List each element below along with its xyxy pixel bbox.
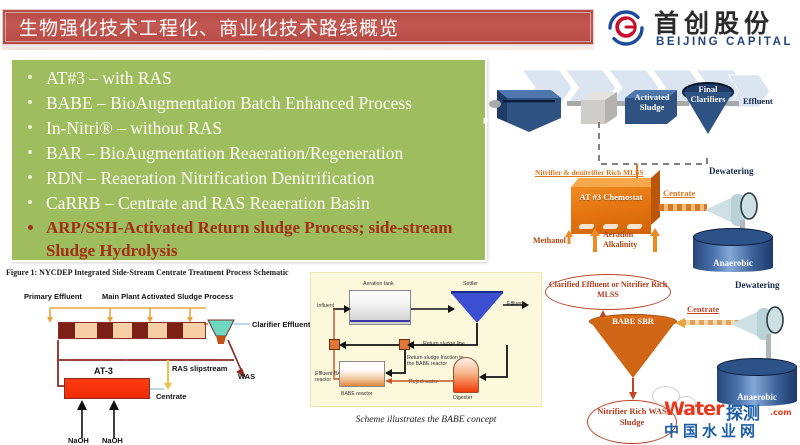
list-item: RDN – Reaeration Nitrification Denitrifi… [20, 166, 479, 191]
bullet-dot-icon [28, 150, 32, 154]
figure-caption: Figure 1: NYCDEP Integrated Side-Stream … [6, 268, 289, 277]
list-item-label: In-Nitri® – without RAS [46, 118, 222, 138]
nitrifier-mlss-label: Nitrifier & denitrifier Rich MLSS [535, 168, 655, 178]
list-item-label: RDN – Reaeration Nitrification Denitrifi… [46, 168, 375, 188]
feed-arrow-group [46, 300, 226, 324]
babe-caption: Scheme illustrates the BABE concept [310, 415, 542, 425]
chemostat-top-face [571, 178, 659, 187]
technology-list-box: AT#3 – with RAS BABE – BioAugmentation B… [10, 58, 487, 262]
list-item-label: CaRRB – Centrate and RAS Reaeration Basi… [46, 193, 370, 213]
ras-slipstream-label: RAS slipstream [172, 364, 227, 374]
naoh-label-right: NaOH [102, 436, 123, 445]
bullet-dot-icon [28, 225, 33, 230]
centrate-pipe [150, 388, 164, 390]
company-logo: 首创股份 BEIJING CAPITAL [604, 4, 800, 52]
anaerobic-label: Anaerobic [693, 258, 773, 268]
list-item-highlighted: ARP/SSH-Activated Return sludge Process;… [20, 216, 479, 262]
list-item: BAR – BioAugmentation Reaeration/Regener… [20, 141, 479, 166]
list-item-label: BABE – BioAugmentation Batch Enhanced Pr… [46, 93, 412, 113]
watermark-domain-suffix: .com [770, 408, 792, 417]
anaerobic-digester-tank: Anaerobic [693, 228, 773, 272]
at3-chemostat-process-flow: P Activated Sludge Final Clarifiers Effl… [487, 62, 800, 262]
slide-title-band: 生物强化技术工程化、商业化技术路线概览 [2, 9, 594, 45]
activated-sludge-label: Activated Sludge [627, 92, 677, 112]
bullet-list: AT#3 – with RAS BABE – BioAugmentation B… [20, 66, 479, 262]
centrate-pipe [659, 204, 707, 211]
chemostat-label: AT #3 Chemostat [571, 187, 651, 203]
bullet-dot-icon [28, 75, 32, 79]
centrate-arrow [673, 315, 689, 331]
beijing-capital-g-icon [604, 6, 648, 50]
tank-lid [717, 358, 797, 376]
centrate-label: Centrate [687, 304, 719, 314]
pipe-segment [567, 101, 581, 106]
list-item: CaRRB – Centrate and RAS Reaeration Basi… [20, 191, 479, 216]
dewatering-label: Dewatering [735, 280, 780, 290]
list-item: AT#3 – with RAS [20, 66, 479, 91]
naoh-label-left: NaOH [68, 436, 89, 445]
bullet-dot-icon [28, 200, 32, 204]
bullet-dot-icon [28, 125, 32, 129]
clarifier-effluent-label: Clarifier Effluent [252, 320, 310, 329]
list-item-label: ARP/SSH-Activated Return sludge Process;… [46, 218, 452, 260]
clarified-effluent-callout: Clarified Effluent or Nitrifier Rich MLS… [545, 274, 671, 310]
babe-sbr-label: BABE SBR [589, 316, 677, 326]
aeration-alkalinity-label: Aeration Alkalinity [603, 230, 657, 249]
watermark: Water 探测 .com 中国水业网 [642, 398, 800, 444]
bullet-dot-icon [28, 175, 32, 179]
header-divider [2, 47, 594, 50]
nycdep-schematic: Figure 1: NYCDEP Integrated Side-Stream … [6, 268, 306, 445]
centrate-label: Centrate [663, 188, 695, 198]
at3-label: AT-3 [94, 366, 113, 376]
babe-sbr-cone [589, 320, 677, 378]
methanol-label: Methanol [533, 236, 566, 245]
at3-chemostat-reactor: AT #3 Chemostat [571, 187, 651, 234]
at3-reactor [64, 378, 150, 399]
dewatering-label: Dewatering [709, 166, 754, 176]
page-title: 生物强化技术工程化、商业化技术路线概览 [19, 14, 399, 41]
final-clarifiers-label: Final Clarifiers [683, 84, 733, 104]
watermark-cn-line: 中国水业网 [664, 420, 759, 441]
list-item: In-Nitri® – without RAS [20, 116, 479, 141]
babe-concept-diagram: Aeration tank Settler Influent Effluent … [310, 272, 542, 407]
list-item-label: AT#3 – with RAS [46, 68, 172, 88]
slide-canvas: 生物强化技术工程化、商业化技术路线概览 首创股份 BEIJING CAPITAL… [0, 0, 800, 445]
logo-english-name: BEIJING CAPITAL [656, 36, 793, 48]
list-item-label: BAR – BioAugmentation Reaeration/Regener… [46, 143, 403, 163]
list-item: BABE – BioAugmentation Batch Enhanced Pr… [20, 91, 479, 116]
was-label: WAS [238, 372, 255, 381]
babe-flow-lines [311, 273, 543, 408]
chemostat-side-face [651, 170, 660, 225]
tank-lid [693, 228, 773, 246]
logo-chinese-name: 首创股份 [654, 4, 774, 40]
bullet-dot-icon [28, 100, 32, 104]
watermark-water-text: Water [664, 398, 723, 420]
effluent-label: Effluent [743, 96, 773, 106]
